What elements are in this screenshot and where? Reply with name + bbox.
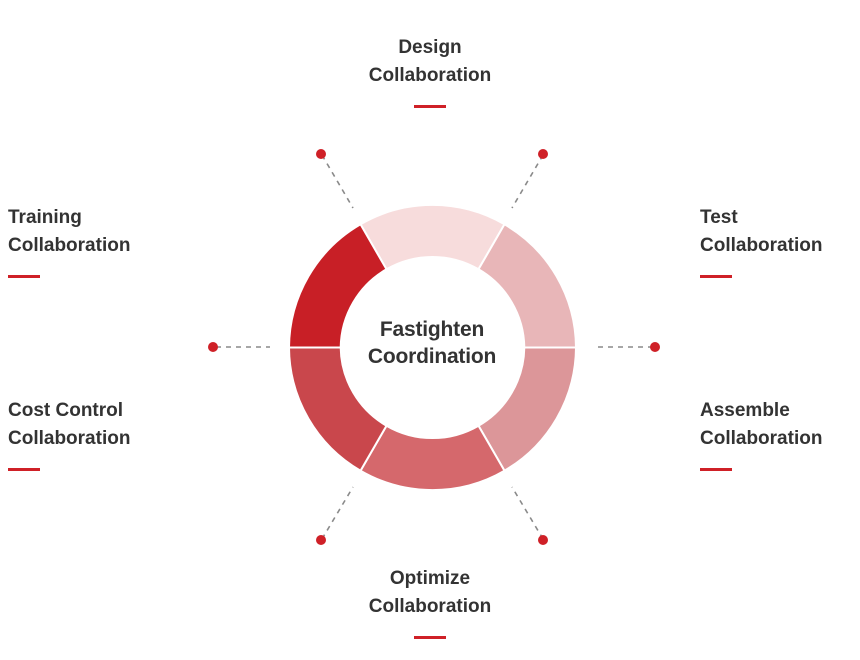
label-cost-control-accent-rule xyxy=(8,468,40,471)
label-design-line-1: Design xyxy=(330,34,530,62)
leader-line-design xyxy=(322,155,353,208)
label-training-line-2: Collaboration xyxy=(8,232,208,260)
leader-dots xyxy=(208,149,660,545)
label-design-line-2: Collaboration xyxy=(330,62,530,90)
label-test-accent-rule xyxy=(700,275,732,278)
label-optimize-line-1: Optimize xyxy=(330,565,530,593)
label-design-accent-rule xyxy=(414,105,446,108)
leader-dot-test[interactable] xyxy=(538,149,548,159)
label-training-accent-rule xyxy=(8,275,40,278)
label-assemble-line-2: Collaboration xyxy=(700,425,860,453)
label-optimize-collaboration[interactable]: Optimize Collaboration xyxy=(330,565,530,639)
leader-line-cost-control xyxy=(322,487,353,539)
label-cost-control-collaboration[interactable]: Cost Control Collaboration xyxy=(8,397,208,471)
label-optimize-accent-rule xyxy=(414,636,446,639)
leader-dot-optimize[interactable] xyxy=(538,535,548,545)
leader-dot-assemble[interactable] xyxy=(650,342,660,352)
label-assemble-line-1: Assemble xyxy=(700,397,860,425)
leader-line-optimize xyxy=(512,487,543,539)
leader-line-test xyxy=(512,155,543,208)
label-training-line-1: Training xyxy=(8,204,208,232)
label-test-collaboration[interactable]: Test Collaboration xyxy=(700,204,860,278)
label-test-line-2: Collaboration xyxy=(700,232,860,260)
leader-lines xyxy=(216,155,652,539)
label-optimize-line-2: Collaboration xyxy=(330,593,530,621)
leader-dot-design[interactable] xyxy=(316,149,326,159)
diagram-canvas: Fastighten Coordination Design Collabora… xyxy=(0,0,860,660)
label-design-collaboration[interactable]: Design Collaboration xyxy=(330,34,530,108)
leader-dot-training[interactable] xyxy=(208,342,218,352)
label-test-line-1: Test xyxy=(700,204,860,232)
label-cost-control-line-1: Cost Control xyxy=(8,397,208,425)
label-training-collaboration[interactable]: Training Collaboration xyxy=(8,204,208,278)
label-assemble-collaboration[interactable]: Assemble Collaboration xyxy=(700,397,860,471)
leader-dot-cost-control[interactable] xyxy=(316,535,326,545)
label-assemble-accent-rule xyxy=(700,468,732,471)
label-cost-control-line-2: Collaboration xyxy=(8,425,208,453)
